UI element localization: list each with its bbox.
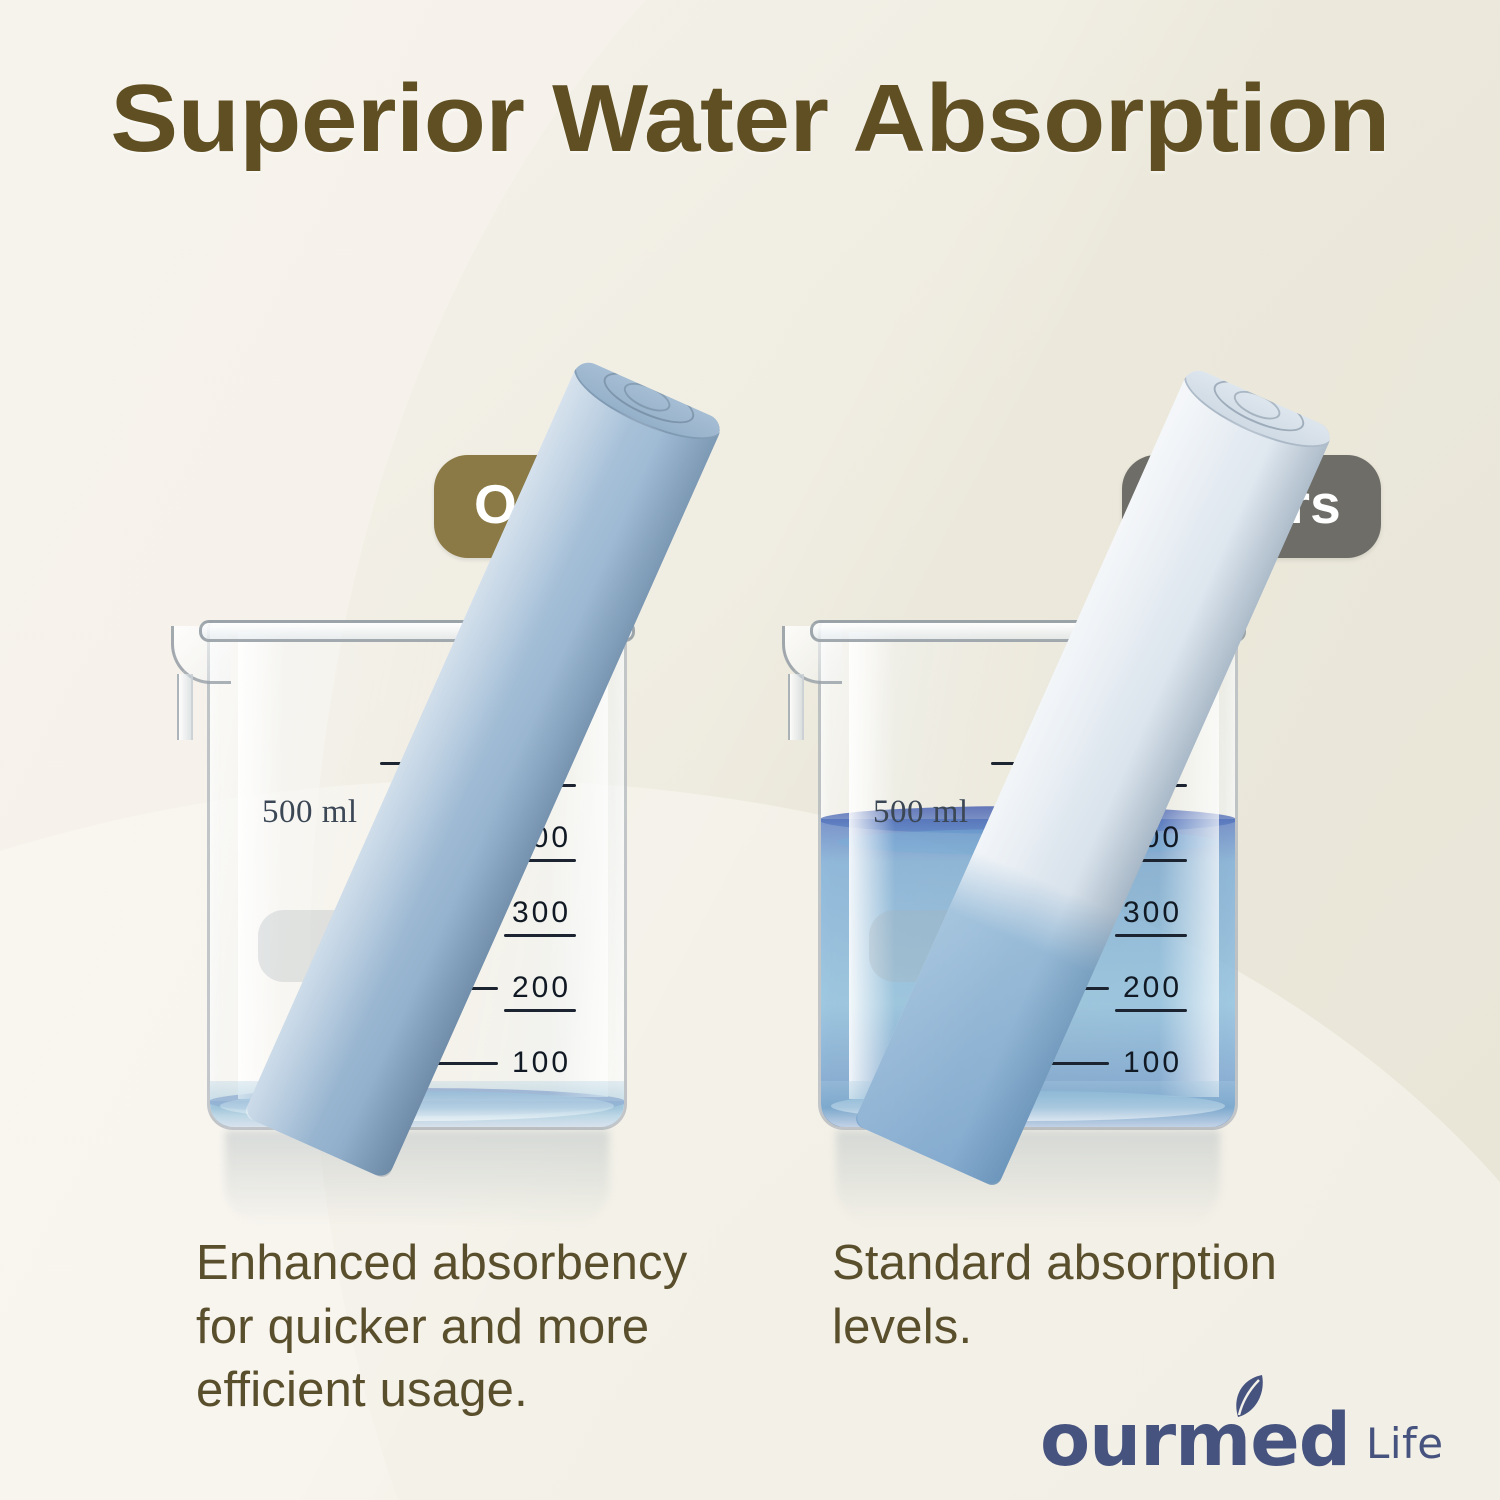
beaker-spout-lip-others <box>788 674 804 740</box>
infographic-canvas: Superior Water Absorption 500 ml 5004003… <box>0 0 1500 1500</box>
graduation-label: 300 <box>512 896 602 930</box>
logo-wordmark: ourmed <box>1040 1407 1350 1474</box>
beaker-reflection-others <box>836 1130 1220 1226</box>
graduation-label: 300 <box>1123 896 1213 930</box>
glass-highlight-left <box>238 632 284 1099</box>
caption-others: Standard absorption levels. <box>832 1232 1352 1359</box>
graduation-label: 100 <box>512 1046 602 1080</box>
glass-highlight-left <box>849 632 895 1099</box>
comparison-panel-others: 500 ml 500400300200100 Others Standard a… <box>750 0 1500 1500</box>
logo-suffix: Life <box>1366 1419 1444 1468</box>
beaker-spout-lip-ours <box>177 674 193 740</box>
graduation-mark-minor <box>504 1009 602 1012</box>
graduation-label: 100 <box>1123 1046 1213 1080</box>
graduation-mark-minor <box>1115 1009 1213 1012</box>
caption-ours: Enhanced absorbency for quicker and more… <box>196 1232 756 1423</box>
graduation-mark-minor <box>504 934 602 937</box>
beaker-reflection-ours <box>225 1130 609 1226</box>
graduation-label: 200 <box>512 971 602 1005</box>
graduation-mark-minor <box>1115 934 1213 937</box>
graduation-label: 200 <box>1123 971 1213 1005</box>
graduation-tick <box>504 1009 576 1012</box>
graduation-tick <box>504 934 576 937</box>
graduation-tick <box>1115 1009 1187 1012</box>
leaf-icon <box>1228 1373 1268 1425</box>
graduation-tick <box>1115 934 1187 937</box>
comparison-panel-ours: 500 ml 500400300200100 Ours Enhanced abs… <box>0 0 750 1500</box>
brand-logo: ourmed Life <box>1040 1378 1444 1474</box>
logo-mark: ourmed <box>1040 1407 1350 1474</box>
